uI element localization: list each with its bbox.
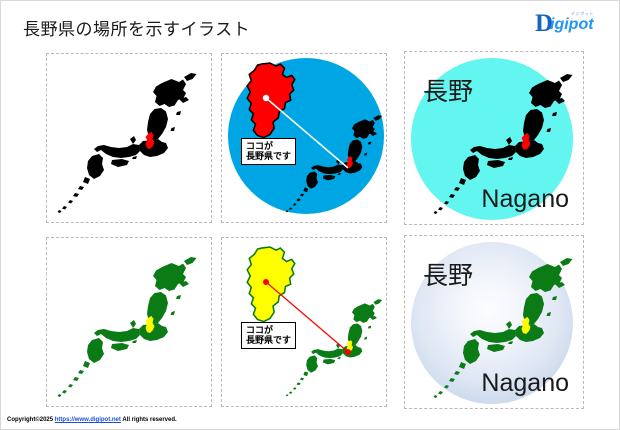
label-nagano-jp: 長野 xyxy=(423,256,473,292)
slide-canvas: 長野県の場所を示すイラスト D igipot デジポット xyxy=(0,0,620,430)
japan-map-black xyxy=(55,60,205,218)
callout-line-1: ココが xyxy=(246,325,291,335)
panel-callout-red[interactable]: ココが 長野県です xyxy=(221,53,387,223)
panel-callout-yellow[interactable]: ココが 長野県です xyxy=(221,237,387,407)
callout-box: ココが 長野県です xyxy=(241,138,296,165)
logo-wordmark: igipot xyxy=(550,17,594,33)
callout-line-1: ココが xyxy=(246,141,291,151)
page-title: 長野県の場所を示すイラスト xyxy=(23,15,250,40)
logo-tagline: デジポット xyxy=(571,11,594,17)
japan-map-green xyxy=(55,244,205,402)
label-nagano-en: Nagano xyxy=(481,369,569,398)
label-nagano-jp: 長野 xyxy=(423,72,473,108)
callout-line-2: 長野県です xyxy=(246,151,291,161)
callout-box: ココが 長野県です xyxy=(241,322,296,349)
footer-prefix: Copyright©2025 xyxy=(7,417,55,423)
copyright-footer: Copyright©2025 https://www.digipot.net A… xyxy=(7,417,177,423)
panel-gradient-green[interactable]: 長野 Nagano xyxy=(404,235,584,409)
callout-line-2: 長野県です xyxy=(246,335,291,345)
digipot-logo[interactable]: D igipot デジポット xyxy=(535,9,605,41)
footer-suffix: All rights reserved. xyxy=(121,417,177,423)
panel-plain-green[interactable] xyxy=(46,237,212,407)
illustration-grid: ココが 長野県です 長野 Nagano xyxy=(46,53,584,401)
footer-link[interactable]: https://www.digipot.net xyxy=(55,417,121,423)
label-nagano-en: Nagano xyxy=(481,185,569,214)
panel-plain-black[interactable] xyxy=(46,53,212,223)
panel-turquoise-black[interactable]: 長野 Nagano xyxy=(404,51,584,225)
